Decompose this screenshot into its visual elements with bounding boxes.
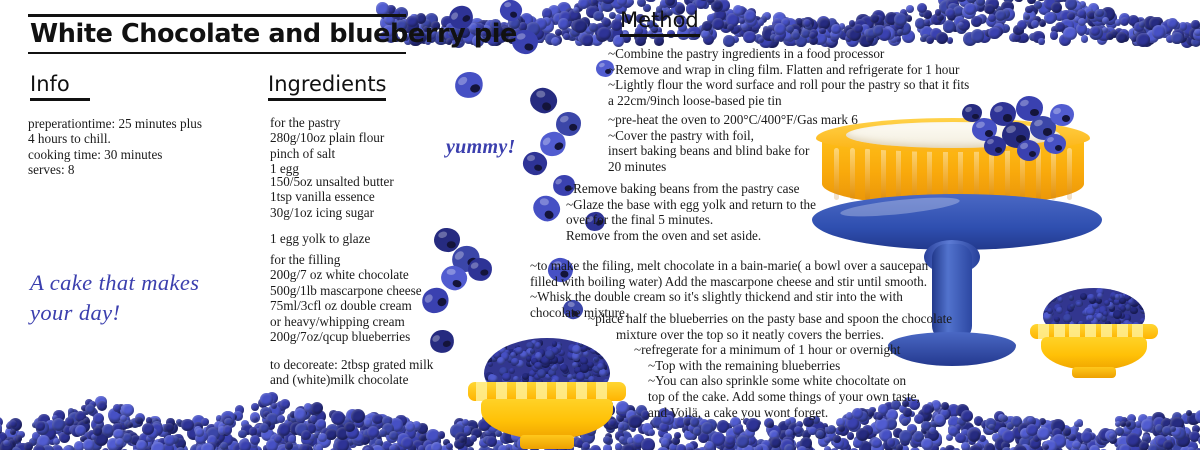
assemble-line-2: mixture over the top so it neatly covers… xyxy=(588,327,952,343)
pastry-extra-line-2: 1tsp vanilla essence xyxy=(270,189,470,204)
info-heading-block: Info xyxy=(30,72,90,101)
yummy-sticker: yummy! xyxy=(446,136,516,159)
pastry-line-3: pinch of salt xyxy=(270,146,470,161)
info-heading-underline xyxy=(30,98,90,101)
blind-bake-line-1: ~pre-heat the oven to 200°C/400°F/Gas ma… xyxy=(608,112,858,128)
method-block-blind-bake: ~pre-heat the oven to 200°C/400°F/Gas ma… xyxy=(608,112,858,174)
glaze-bake-line-2: ~Glaze the base with egg yolk and return… xyxy=(566,197,816,213)
blind-bake-line-4: 20 minutes xyxy=(608,159,858,175)
pastry-line-2: 280g/10oz plain flour xyxy=(270,130,470,145)
info-heading: Info xyxy=(30,72,70,96)
method-block-assemble: ~place half the blueberries on the pasty… xyxy=(588,311,952,420)
ingredients-group-glaze: 1 egg yolk to glaze xyxy=(270,231,470,246)
pastry-extra-line-3: 30g/1oz icing sugar xyxy=(270,205,470,220)
ingredients-heading-underline xyxy=(268,98,386,101)
filling-line-4: 75ml/3cfl oz double cream xyxy=(270,298,470,313)
ingredients-group-pastry-extra: 150/5oz unsalted butter1tsp vanilla esse… xyxy=(270,174,470,220)
method-heading-underline xyxy=(620,34,700,37)
method-block-pastry-prep: ~Combine the pastry ingredients in a foo… xyxy=(608,46,969,108)
method-block-glaze-bake: ~Remove baking beans from the pastry cas… xyxy=(566,181,816,243)
assemble-line-1: ~place half the blueberries on the pasty… xyxy=(588,311,952,327)
filling-line-1: for the filling xyxy=(270,252,470,267)
filling-make-line-1: ~to make the filing, melt chocolate in a… xyxy=(530,258,928,274)
filling-make-line-2: filled with boiling water) Add the masca… xyxy=(530,274,928,290)
glaze-line-1: 1 egg yolk to glaze xyxy=(270,231,470,246)
glaze-bake-line-4: Remove from the oven and set aside. xyxy=(566,228,816,244)
ingredients-heading: Ingredients xyxy=(268,72,387,96)
pastry-extra-line-1: 150/5oz unsalted butter xyxy=(270,174,470,189)
assemble-line-4: ~Top with the remaining blueberries xyxy=(588,358,952,374)
glaze-bake-line-3: over for the final 5 minutes. xyxy=(566,212,816,228)
ingredients-group-pastry: for the pastry280g/10oz plain flourpinch… xyxy=(270,115,470,177)
filling-line-2: 200g/7 oz white chocolate xyxy=(270,267,470,282)
filling-line-5: or heavy/whipping cream xyxy=(270,314,470,329)
text-layer: White Chocolate and blueberry pie Info I… xyxy=(0,0,1200,450)
decorate-line-2: and (white)milk chocolate xyxy=(270,372,470,387)
recipe-page: White Chocolate and blueberry pie Info I… xyxy=(0,0,1200,450)
pastry-prep-line-4: a 22cm/9inch loose-based pie tin xyxy=(608,93,969,109)
quote-line-1: A cake that makes xyxy=(30,268,199,298)
info-line-3: cooking time: 30 minutes xyxy=(28,147,258,162)
quote-line-2: your day! xyxy=(30,298,199,328)
method-heading: Method xyxy=(620,8,699,32)
pastry-prep-line-2: ~Remove and wrap in cling film. Flatten … xyxy=(608,62,969,78)
filling-line-3: 500g/1lb mascarpone cheese xyxy=(270,283,470,298)
info-line-1: preperationtime: 25 minutes plus xyxy=(28,116,258,131)
ingredients-heading-block: Ingredients xyxy=(268,72,386,101)
page-title-block: White Chocolate and blueberry pie xyxy=(28,14,406,54)
filling-line-6: 200g/7oz/qcup blueberries xyxy=(270,329,470,344)
title-rule-bottom xyxy=(28,52,406,54)
info-text: preperationtime: 25 minutes plus4 hours … xyxy=(28,116,258,178)
info-line-2: 4 hours to chill. xyxy=(28,131,258,146)
ingredients-group-filling: for the filling200g/7 oz white chocolate… xyxy=(270,252,470,344)
assemble-line-7: and Voilä, a cake you wont forget. xyxy=(588,405,952,421)
info-line-4: serves: 8 xyxy=(28,162,258,177)
blind-bake-line-2: ~Cover the pastry with foil, xyxy=(608,128,858,144)
page-title: White Chocolate and blueberry pie xyxy=(28,17,406,52)
assemble-line-6: top of the cake. Add some things of your… xyxy=(588,389,952,405)
assemble-line-3: ~refregerate for a minimum of 1 hour or … xyxy=(588,342,952,358)
pastry-prep-line-3: ~Lightly flour the word surface and roll… xyxy=(608,77,969,93)
decorative-quote: A cake that makes your day! xyxy=(30,268,199,328)
filling-make-line-3: ~Whisk the double cream so it's slightly… xyxy=(530,289,928,305)
pastry-line-1: for the pastry xyxy=(270,115,470,130)
method-heading-block: Method xyxy=(620,8,700,37)
ingredients-group-decorate: to decoreate: 2tbsp grated milkand (whit… xyxy=(270,357,470,388)
assemble-line-5: ~You can also sprinkle some white chocol… xyxy=(588,373,952,389)
decorate-line-1: to decoreate: 2tbsp grated milk xyxy=(270,357,470,372)
glaze-bake-line-1: ~Remove baking beans from the pastry cas… xyxy=(566,181,816,197)
pastry-prep-line-1: ~Combine the pastry ingredients in a foo… xyxy=(608,46,969,62)
blind-bake-line-3: insert baking beans and blind bake for xyxy=(608,143,858,159)
